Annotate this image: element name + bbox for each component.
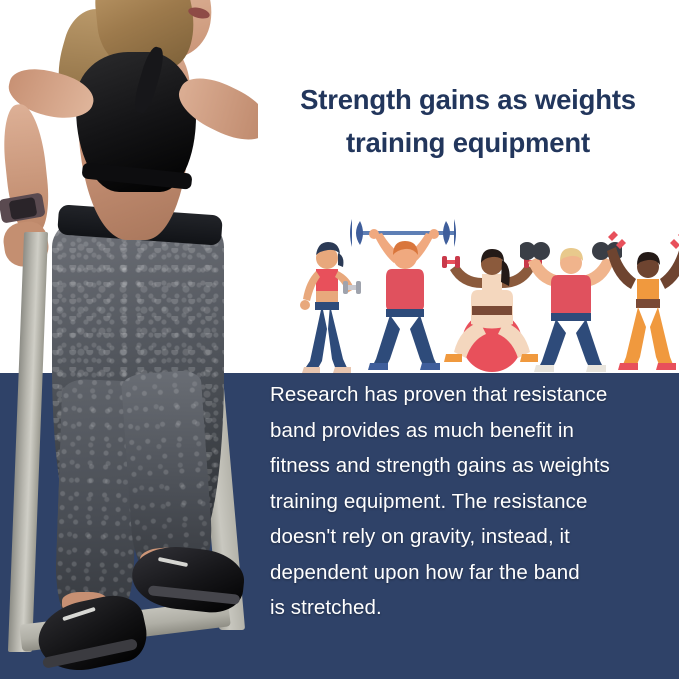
right-hand-weight-icon (670, 231, 679, 249)
left-hand-icon (369, 229, 379, 239)
hair-back-icon (338, 253, 343, 267)
left-hand-weight-icon (608, 231, 626, 249)
crop-top-icon (637, 279, 659, 301)
left-hand-icon (300, 300, 310, 310)
right-shoe-icon (333, 367, 351, 373)
left-shoe-icon (618, 363, 638, 370)
legs-icon (622, 307, 674, 367)
right-shoe-icon (656, 363, 676, 370)
crop-top-icon (482, 274, 502, 294)
headline: Strength gains as weights training equip… (262, 78, 674, 164)
waistband-icon (315, 302, 339, 310)
left-shoe-icon (534, 365, 554, 372)
tank-top-icon (386, 269, 424, 311)
waistband-icon (551, 313, 591, 321)
figure-woman-arms-raised (602, 225, 679, 375)
legs-icon (304, 305, 348, 370)
left-shoe-icon (444, 354, 462, 362)
legs-icon (538, 319, 604, 369)
sports-bra-icon (316, 269, 338, 291)
left-dumbbell-icon (442, 256, 460, 268)
left-dumbbell-icon (520, 242, 550, 260)
left-shoe-icon (368, 363, 388, 370)
body-paragraph: Research has proven that resistance band… (270, 377, 679, 626)
right-shoe-icon (420, 363, 440, 370)
waistband-icon (386, 309, 424, 317)
left-shoe-icon (302, 367, 320, 373)
product-photo (0, 0, 258, 679)
product-poster: Strength gains as weights training equip… (0, 0, 679, 679)
waist-belt-icon (636, 299, 660, 308)
exercise-figures-strip (280, 210, 679, 375)
tank-top-icon (551, 275, 591, 317)
hair-long-icon (501, 260, 510, 286)
legs-icon (372, 315, 438, 367)
waist-belt-icon (472, 306, 512, 315)
